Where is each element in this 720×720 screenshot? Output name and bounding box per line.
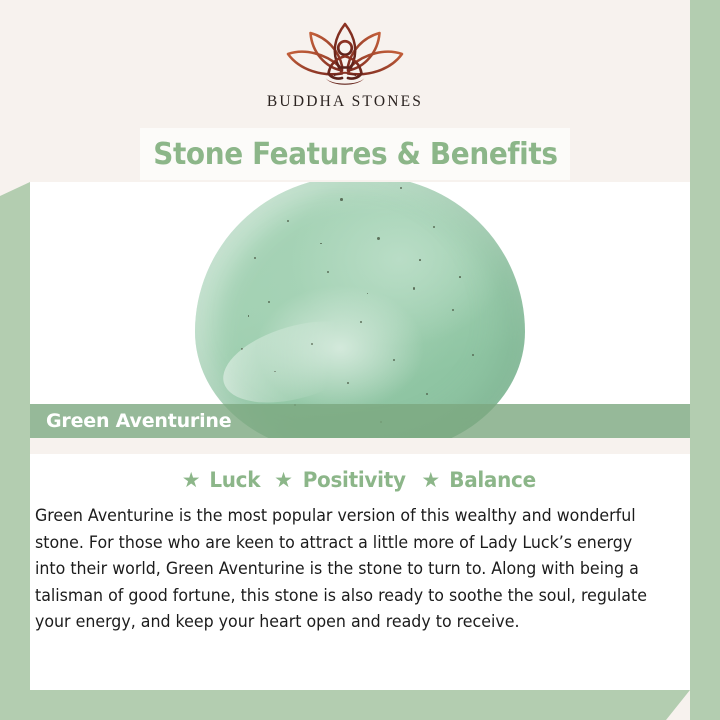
benefit-label: Balance bbox=[449, 468, 536, 492]
product-photo-panel bbox=[30, 182, 690, 438]
product-name-band: Green Aventurine bbox=[30, 404, 690, 438]
benefit-item-luck: ★ Luck bbox=[182, 468, 261, 492]
section-divider bbox=[30, 438, 690, 454]
product-name: Green Aventurine bbox=[46, 410, 231, 432]
star-icon: ★ bbox=[421, 470, 440, 491]
header-area: BUDDHA STONES Stone Features & Benefits bbox=[0, 0, 690, 182]
frame-left-bar bbox=[0, 182, 30, 720]
stone-speckles bbox=[195, 182, 525, 438]
brand-logo: BUDDHA STONES bbox=[0, 18, 690, 111]
star-icon: ★ bbox=[182, 470, 201, 491]
page-title-banner: Stone Features & Benefits bbox=[140, 128, 570, 180]
star-icon: ★ bbox=[274, 470, 293, 491]
stone-features-infographic: BUDDHA STONES Stone Features & Benefits bbox=[0, 0, 720, 720]
benefits-row: ★ Luck ★ Positivity ★ Balance bbox=[30, 454, 690, 492]
lotus-meditation-icon bbox=[270, 18, 420, 90]
brand-name: BUDDHA STONES bbox=[267, 93, 423, 111]
benefit-label: Luck bbox=[209, 468, 260, 492]
green-aventurine-stone-image bbox=[195, 182, 525, 438]
page-title: Stone Features & Benefits bbox=[153, 137, 557, 172]
description-panel: ★ Luck ★ Positivity ★ Balance Green Aven… bbox=[30, 454, 690, 690]
description-text: Green Aventurine is the most popular ver… bbox=[35, 503, 662, 636]
benefit-item-positivity: ★ Positivity bbox=[274, 468, 408, 492]
frame-right-bar bbox=[690, 0, 720, 720]
frame-bottom-bar bbox=[0, 690, 690, 720]
product-photo bbox=[30, 182, 690, 438]
benefit-label: Positivity bbox=[303, 468, 406, 492]
benefit-item-balance: ★ Balance bbox=[421, 468, 538, 492]
